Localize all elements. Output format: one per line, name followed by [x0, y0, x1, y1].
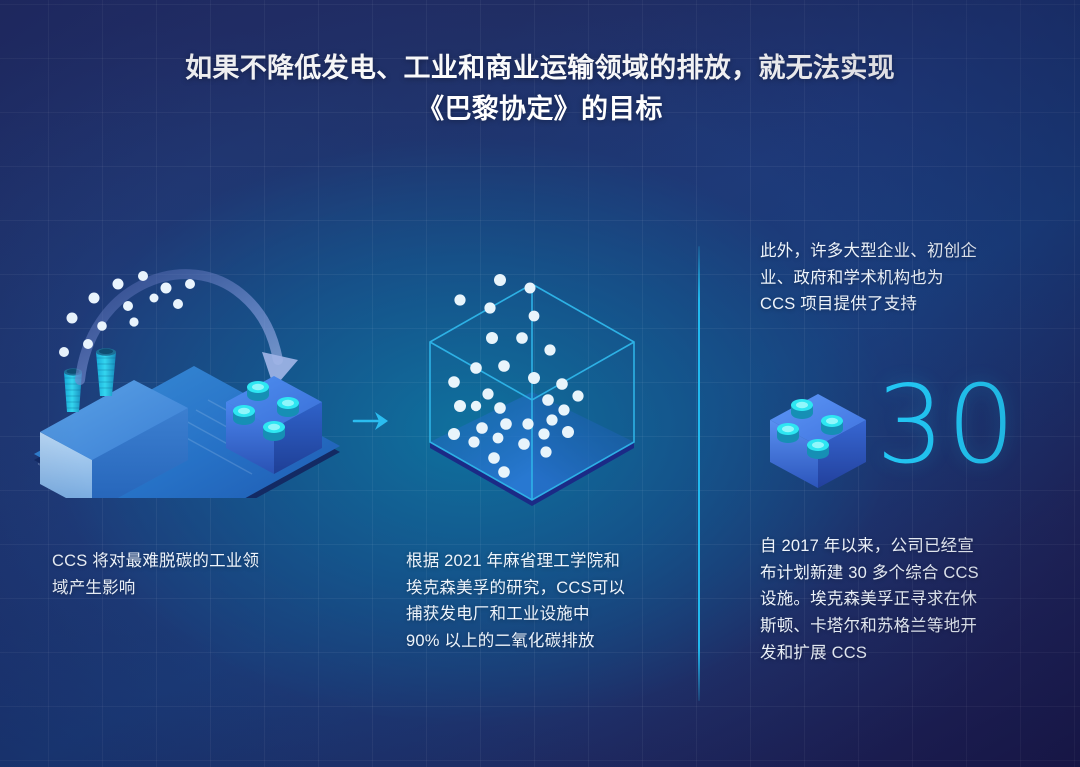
caption-right-top: 此外，许多大型企业、初创企 业、政府和学术机构也为 CCS 项目提供了支持: [760, 238, 1030, 318]
smokestack-right: [94, 348, 118, 396]
cube-inner-face-left: [430, 392, 532, 500]
emission-particles: [59, 271, 195, 357]
title-line-2: 《巴黎协定》的目标: [0, 89, 1080, 130]
cube-inner-face-right: [532, 392, 634, 500]
caption-right-bottom: 自 2017 年以来，公司已经宣 布计划新建 30 多个综合 CCS 设施。埃克…: [760, 533, 1035, 667]
caption-left: CCS 将对最难脱碳的工业领 域产生影响: [52, 548, 362, 601]
right-arrow-icon: [352, 404, 392, 438]
co2-capture-cube-illustration: [412, 272, 652, 512]
infographic-slide: 如果不降低发电、工业和商业运输领域的排放，就无法实现 《巴黎协定》的目标: [0, 0, 1080, 767]
title-line-1: 如果不降低发电、工业和商业运输领域的排放，就无法实现: [0, 48, 1080, 89]
facility-count-number: 30: [876, 372, 1017, 480]
industrial-plant-illustration: [30, 248, 370, 498]
caption-middle: 根据 2021 年麻省理工学院和 埃克森美孚的研究，CCS可以 捕获发电厂和工业…: [406, 548, 706, 655]
capture-module-cube-illustration: [762, 378, 872, 490]
page-title: 如果不降低发电、工业和商业运输领域的排放，就无法实现 《巴黎协定》的目标: [0, 48, 1080, 130]
